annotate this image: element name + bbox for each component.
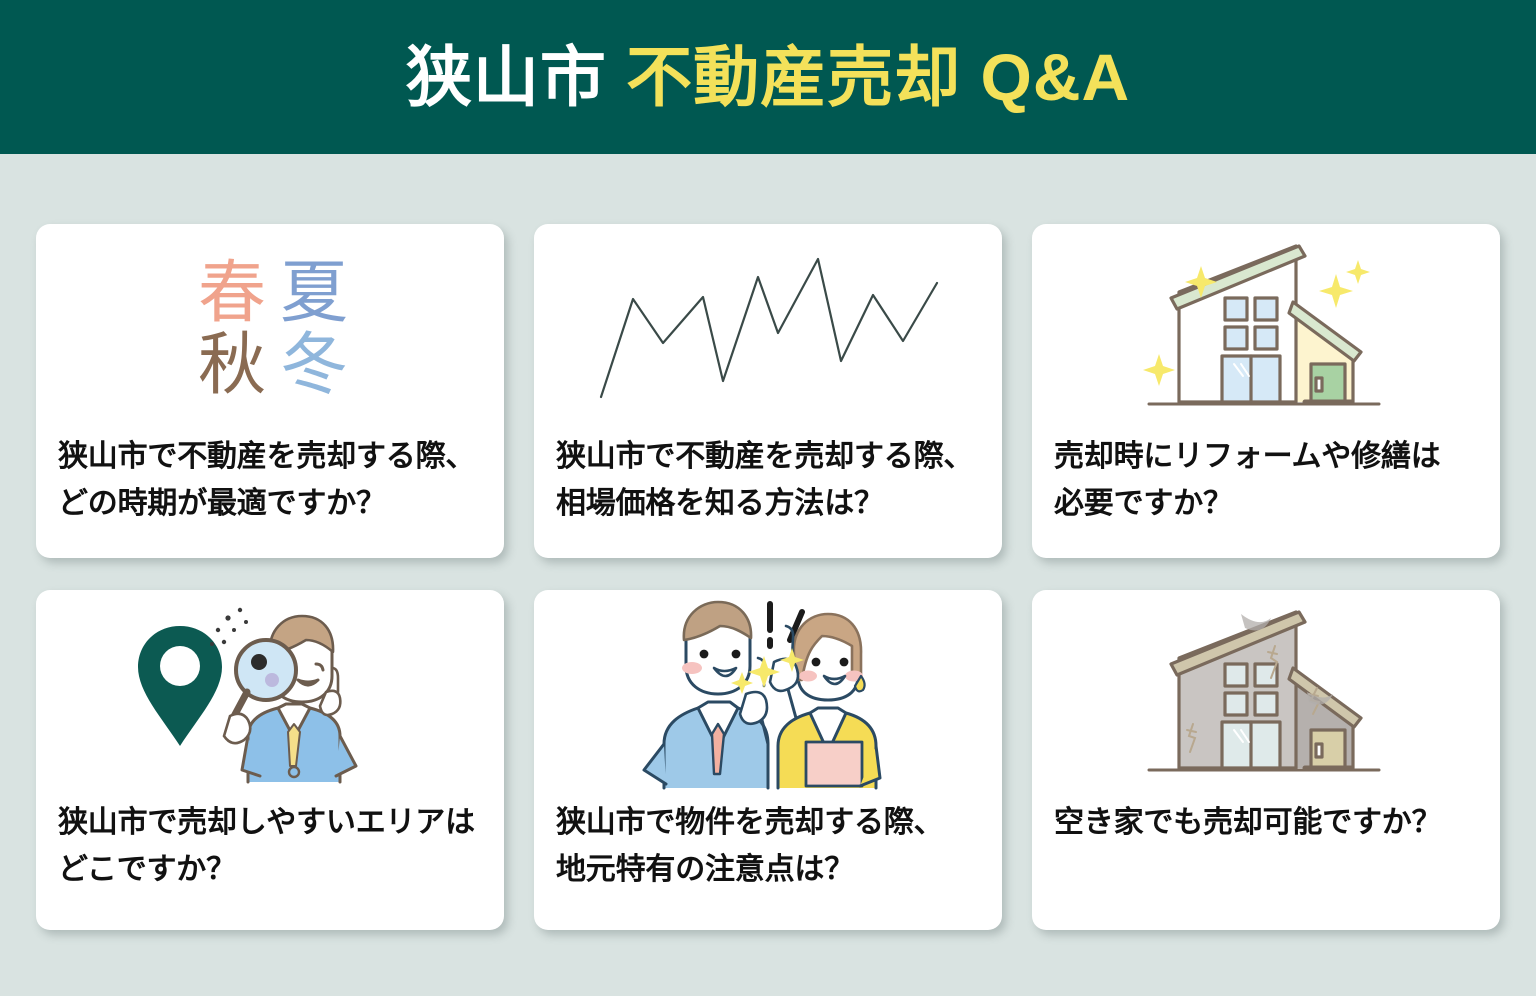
qa-card-question: 狭山市で不動産を売却する際、 どの時期が最適ですか？ bbox=[58, 434, 482, 528]
map-pin-man-magnifier-icon bbox=[58, 596, 482, 796]
question-line-1: 空き家でも売却可能ですか？ bbox=[1054, 800, 1478, 847]
qa-card-market-price[interactable]: 狭山市で不動産を売却する際、 相場価格を知る方法は？ bbox=[534, 224, 1002, 558]
question-line-1: 狭山市で売却しやすいエリアは bbox=[58, 800, 482, 847]
qa-card-vacant-house[interactable]: 空き家でも売却可能ですか？ bbox=[1032, 590, 1500, 930]
page-title: 狭山市 不動産売却 Q&A bbox=[406, 44, 1130, 110]
qa-card-grid: 春 夏 秋 冬 狭山市で不動産を売却する際、 どの時期が最適ですか？ 狭山市で不… bbox=[36, 224, 1500, 930]
kanji-spring-icon: 春 bbox=[198, 260, 266, 328]
question-line-2: どの時期が最適ですか？ bbox=[58, 481, 482, 528]
qa-card-question: 空き家でも売却可能ですか？ bbox=[1054, 800, 1478, 847]
kanji-summer-icon: 夏 bbox=[280, 260, 348, 328]
qa-card-local-notes[interactable]: 狭山市で物件を売却する際、 地元特有の注意点は？ bbox=[534, 590, 1002, 930]
qa-card-question: 売却時にリフォームや修繕は 必要ですか？ bbox=[1054, 434, 1478, 528]
four-seasons-kanji-icon: 春 夏 秋 冬 bbox=[58, 230, 482, 430]
qa-card-question: 狭山市で不動産を売却する際、 相場価格を知る方法は？ bbox=[556, 434, 980, 528]
dots-icon bbox=[210, 608, 248, 646]
kanji-autumn-icon: 秋 bbox=[198, 332, 266, 400]
market-price-line-chart-icon bbox=[556, 230, 980, 430]
question-line-1: 狭山市で不動産を売却する際、 bbox=[556, 434, 980, 481]
page-header: 狭山市 不動産売却 Q&A bbox=[0, 0, 1536, 154]
question-line-2: 必要ですか？ bbox=[1054, 481, 1478, 528]
qa-card-season[interactable]: 春 夏 秋 冬 狭山市で不動産を売却する際、 どの時期が最適ですか？ bbox=[36, 224, 504, 558]
question-line-1: 売却時にリフォームや修繕は bbox=[1054, 434, 1478, 481]
kanji-winter-icon: 冬 bbox=[280, 332, 348, 400]
two-agents-pointing-icon bbox=[556, 596, 980, 796]
question-line-2: 相場価格を知る方法は？ bbox=[556, 481, 980, 528]
price-trend-polyline bbox=[601, 259, 937, 397]
renovated-house-icon bbox=[1054, 230, 1478, 430]
page-title-city: 狭山市 bbox=[406, 40, 607, 114]
question-line-1: 狭山市で不動産を売却する際、 bbox=[58, 434, 482, 481]
question-line-1: 狭山市で物件を売却する際、 bbox=[556, 800, 980, 847]
qa-card-area[interactable]: 狭山市で売却しやすいエリアは どこですか？ bbox=[36, 590, 504, 930]
page-title-main: 不動産売却 Q&A bbox=[626, 40, 1130, 114]
vacant-house-icon bbox=[1054, 596, 1478, 796]
qa-page: 狭山市 不動産売却 Q&A 春 夏 秋 冬 狭山市で不動産を売却する際、 どの時… bbox=[0, 0, 1536, 996]
question-line-2: 地元特有の注意点は？ bbox=[556, 847, 980, 894]
qa-card-question: 狭山市で物件を売却する際、 地元特有の注意点は？ bbox=[556, 800, 980, 894]
question-line-2: どこですか？ bbox=[58, 847, 482, 894]
qa-card-reform[interactable]: 売却時にリフォームや修繕は 必要ですか？ bbox=[1032, 224, 1500, 558]
map-pin-icon bbox=[138, 626, 222, 746]
qa-card-question: 狭山市で売却しやすいエリアは どこですか？ bbox=[58, 800, 482, 894]
